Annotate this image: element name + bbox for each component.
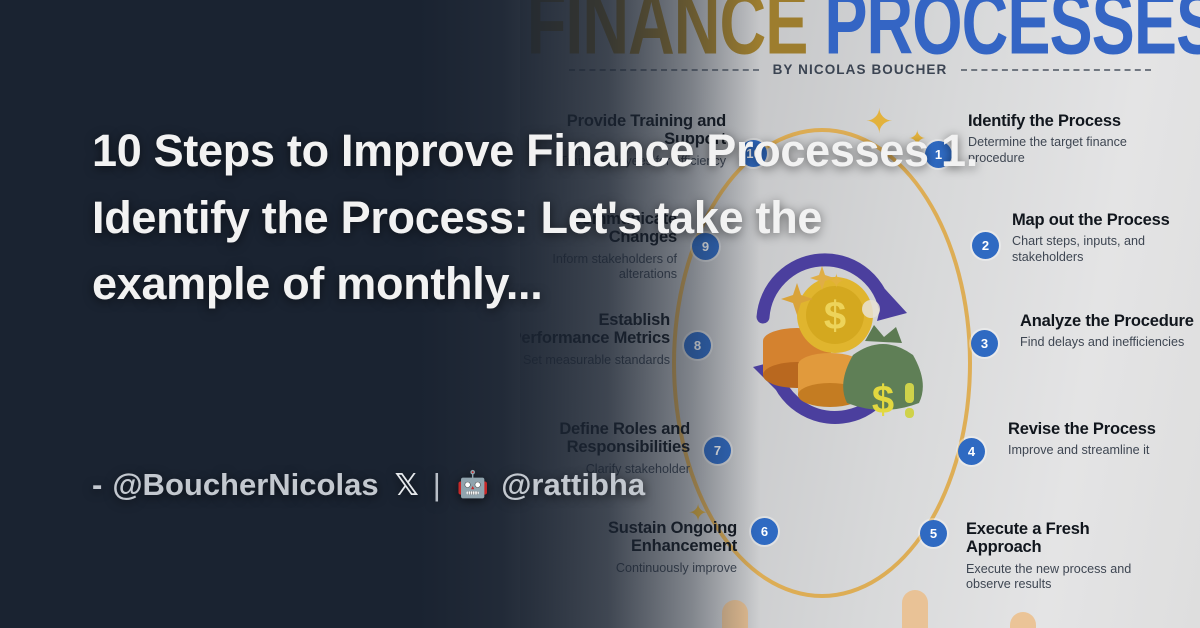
card-content: 10 Steps to Improve Finance Processes 1.… bbox=[0, 0, 1200, 628]
tweet-headline: 10 Steps to Improve Finance Processes 1.… bbox=[92, 118, 992, 318]
source-handle: @rattibha bbox=[501, 467, 645, 503]
author-handle: @BoucherNicolas bbox=[112, 467, 378, 503]
attribution-separator: | bbox=[433, 467, 441, 503]
robot-icon: 🤖 bbox=[457, 470, 489, 500]
attribution-dash: - bbox=[92, 467, 102, 503]
attribution-line: - @BoucherNicolas 𝕏 | 🤖 @rattibha bbox=[92, 467, 645, 503]
social-share-card: FINANCE PROCESSES BY NICOLAS BOUCHER bbox=[0, 0, 1200, 628]
x-twitter-icon: 𝕏 bbox=[395, 468, 419, 503]
